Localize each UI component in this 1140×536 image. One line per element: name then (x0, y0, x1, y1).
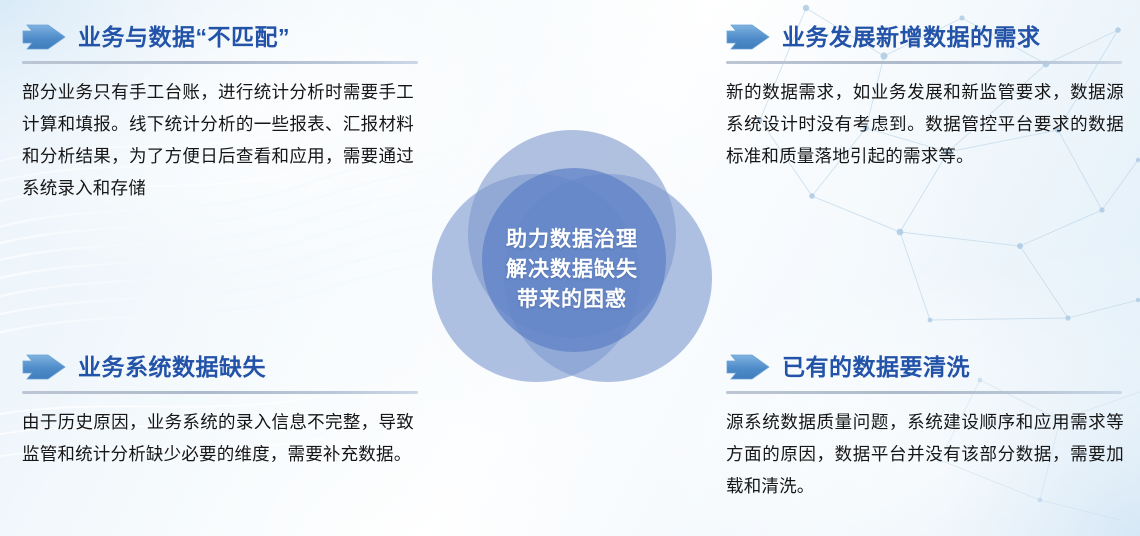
block-body-text: 由于历史原因，业务系统的录入信息不完整，导致监管和统计分析缺少必要的维度，需要补… (22, 407, 414, 471)
block-header: 业务系统数据缺失 (22, 348, 426, 386)
block-business-data-mismatch: 业务与数据“不匹配” 部分业务只有手工台账，进行统计分析时需要手工计算和填报。线… (22, 18, 426, 222)
block-title: 已有的数据要清洗 (782, 356, 970, 379)
block-divider (22, 61, 418, 64)
block-body-text: 新的数据需求，如业务发展和新监管要求，数据源系统设计时没有考虑到。数据管控平台要… (726, 77, 1124, 173)
right-arrow-icon (22, 24, 66, 50)
block-divider (22, 391, 418, 394)
block-system-data-missing: 业务系统数据缺失 由于历史原因，业务系统的录入信息不完整，导致监管和统计分析缺少… (22, 348, 426, 488)
block-title: 业务系统数据缺失 (78, 356, 266, 379)
block-divider (726, 61, 1122, 64)
slide-canvas: 助力数据治理 解决数据缺失 带来的困惑 业务与数据“不匹配” 部分业务只有手工台… (0, 0, 1140, 536)
right-arrow-icon (22, 354, 66, 380)
block-title: 业务与数据“不匹配” (78, 26, 290, 49)
block-body-text: 部分业务只有手工台账，进行统计分析时需要手工计算和填报。线下统计分析的一些报表、… (22, 77, 414, 204)
block-divider (726, 391, 1122, 394)
block-header: 业务与数据“不匹配” (22, 18, 426, 56)
block-header: 已有的数据要清洗 (726, 348, 1130, 386)
block-new-data-demand: 业务发展新增数据的需求 新的数据需求，如业务发展和新监管要求，数据源系统设计时没… (726, 18, 1130, 190)
right-arrow-icon (726, 24, 770, 50)
block-body-text: 源系统数据质量问题，系统建设顺序和应用需求等方面的原因，数据平台并没有该部分数据… (726, 407, 1124, 503)
block-title: 业务发展新增数据的需求 (782, 26, 1041, 49)
center-caption: 助力数据治理 解决数据缺失 带来的困惑 (432, 225, 712, 314)
right-arrow-icon (726, 354, 770, 380)
block-existing-data-cleaning: 已有的数据要清洗 源系统数据质量问题，系统建设顺序和应用需求等方面的原因，数据平… (726, 348, 1130, 520)
block-header: 业务发展新增数据的需求 (726, 18, 1130, 56)
